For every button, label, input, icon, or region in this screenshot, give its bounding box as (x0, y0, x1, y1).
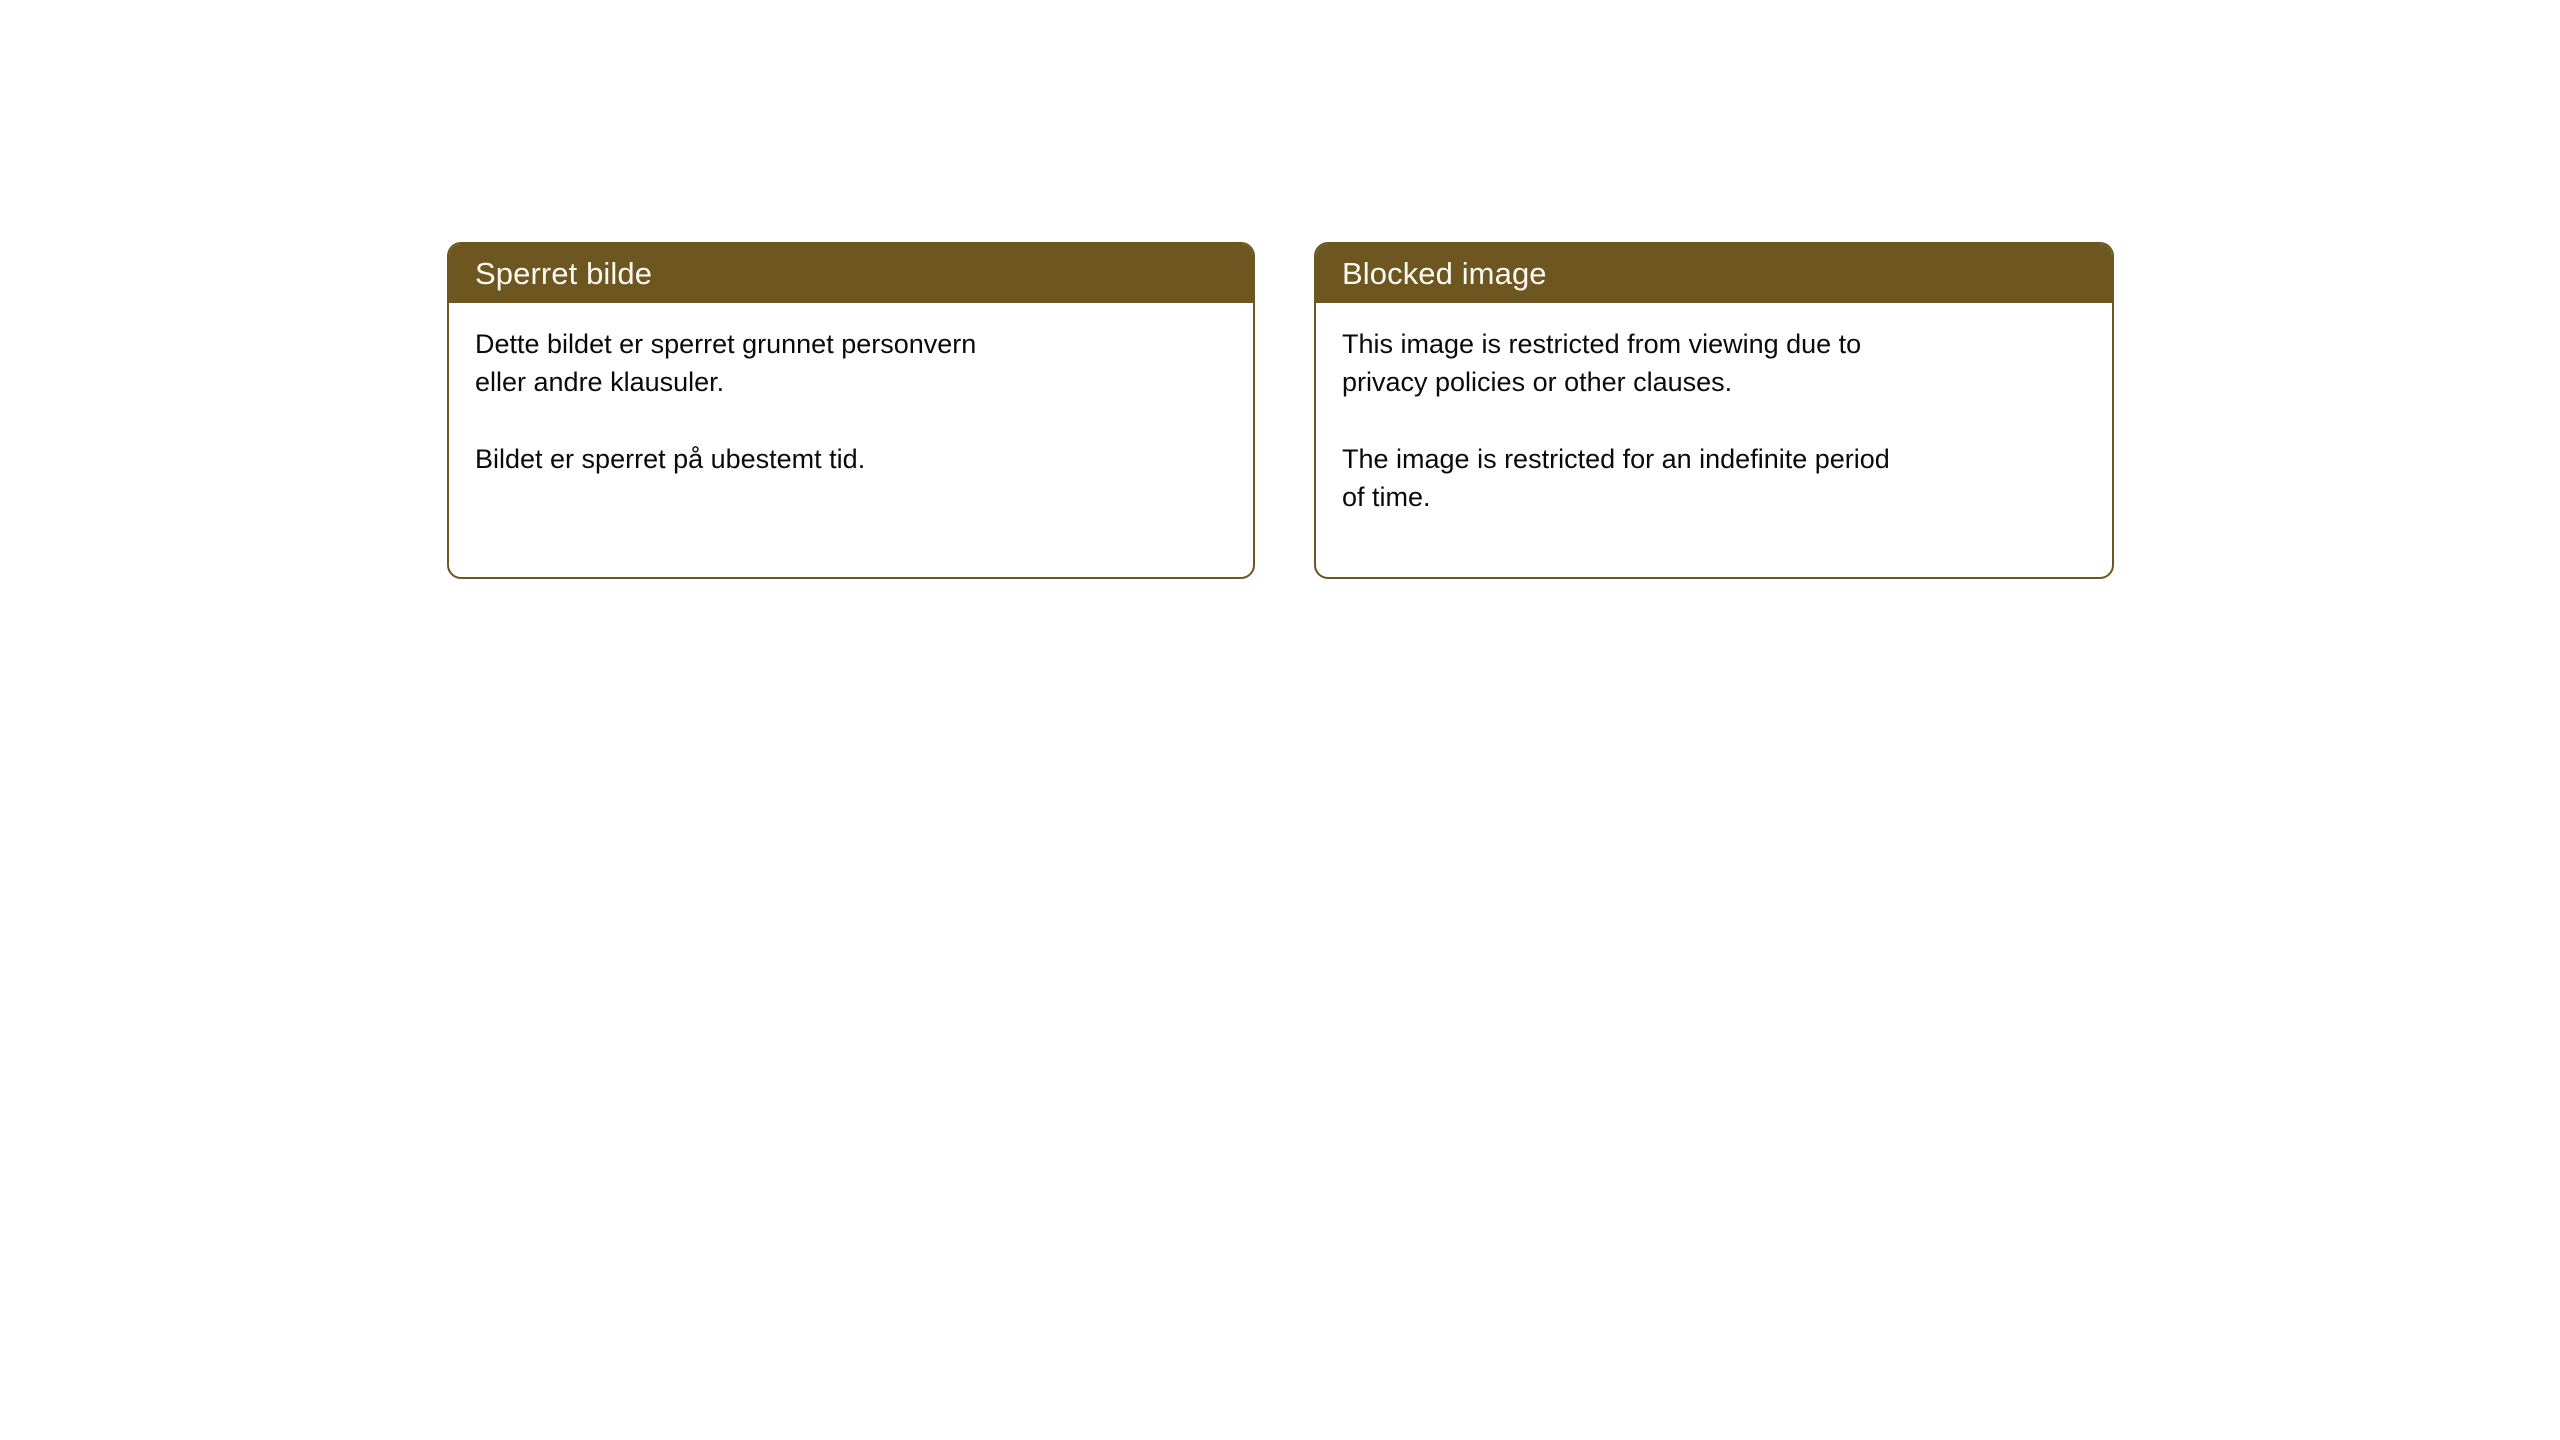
card-body-english: This image is restricted from viewing du… (1316, 303, 2112, 516)
paragraph-line: This image is restricted from viewing du… (1342, 325, 2086, 363)
card-header-norwegian: Sperret bilde (449, 244, 1253, 303)
notice-paragraph-restriction-reason-english: This image is restricted from viewing du… (1342, 325, 2086, 401)
paragraph-line: Dette bildet er sperret grunnet personve… (475, 325, 1227, 363)
card-header-english: Blocked image (1316, 244, 2112, 303)
card-body-norwegian: Dette bildet er sperret grunnet personve… (449, 303, 1253, 478)
notice-paragraph-restriction-duration-norwegian: Bildet er sperret på ubestemt tid. (475, 440, 1227, 478)
blocked-image-notice-card-norwegian: Sperret bilde Dette bildet er sperret gr… (447, 242, 1255, 579)
paragraph-line: eller andre klausuler. (475, 363, 1227, 401)
paragraph-line: privacy policies or other clauses. (1342, 363, 2086, 401)
blocked-image-notice-card-english: Blocked image This image is restricted f… (1314, 242, 2114, 579)
paragraph-line: Bildet er sperret på ubestemt tid. (475, 440, 1227, 478)
page-canvas: Sperret bilde Dette bildet er sperret gr… (0, 0, 2560, 1440)
notice-paragraph-restriction-reason-norwegian: Dette bildet er sperret grunnet personve… (475, 325, 1227, 401)
paragraph-line: of time. (1342, 478, 2086, 516)
paragraph-line: The image is restricted for an indefinit… (1342, 440, 2086, 478)
card-title-english: Blocked image (1342, 258, 1547, 289)
notice-paragraph-restriction-duration-english: The image is restricted for an indefinit… (1342, 440, 2086, 516)
card-title-norwegian: Sperret bilde (475, 258, 652, 289)
